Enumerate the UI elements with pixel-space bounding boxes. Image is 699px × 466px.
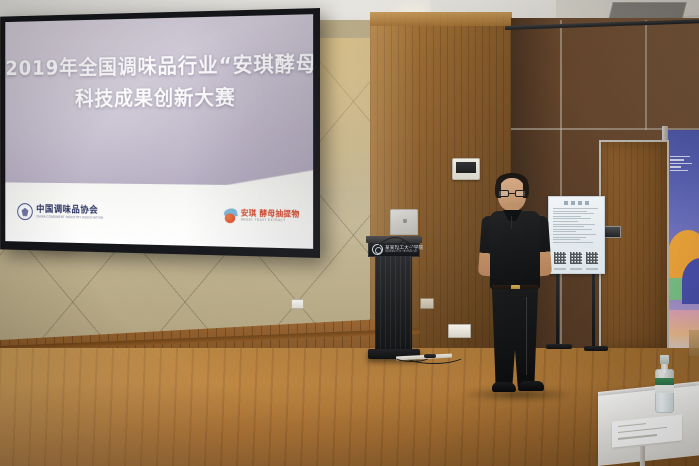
projection-screen-surface: 2019年全国调味品行业“安琪酵母抽提物”杯 科技成果创新大赛 中国调味品协会 … [5,14,313,249]
photo-scene: 2019年全国调味品行业“安琪酵母抽提物”杯 科技成果创新大赛 中国调味品协会 … [0,0,699,466]
laptop-lid [390,209,418,235]
door-icon[interactable] [599,140,669,352]
open-doorway-icon[interactable] [666,130,699,358]
floor-light-sheen [0,348,699,466]
board-stand-foot [584,346,608,351]
board-stand-post [592,262,595,348]
presenter-legs [492,289,538,387]
table-leg [640,446,645,466]
presenter-right-shoe [518,381,544,391]
qr-code-icon[interactable] [570,252,582,264]
presenter-left-shoe [492,382,516,392]
presenter [470,172,562,410]
projection-screen: 2019年全国调味品行业“安琪酵母抽提物”杯 科技成果创新大赛 中国调味品协会 … [0,8,320,258]
microphone-icon[interactable] [424,354,436,358]
screen-vignette [5,14,313,249]
laptop-icon[interactable] [388,209,420,237]
presenter-torso [490,211,540,289]
bottle-label [655,378,674,393]
laptop-brand-logo-icon [403,219,407,223]
bottle-neck [661,363,668,373]
background-object [689,330,699,356]
bottle-cap [660,355,669,364]
polo-placket [511,216,512,229]
qr-code-icon[interactable] [586,252,598,264]
partition-seam [645,20,647,130]
eyeglasses-icon [498,190,526,197]
door-handle-icon[interactable] [604,226,621,238]
power-strip-icon [448,324,471,338]
trouser-crease [526,297,527,375]
power-outlet-icon[interactable] [291,299,304,309]
water-bottle-icon[interactable] [655,355,674,413]
doorway-banner-text-block [670,156,692,173]
wood-column-top-edge [370,12,512,26]
